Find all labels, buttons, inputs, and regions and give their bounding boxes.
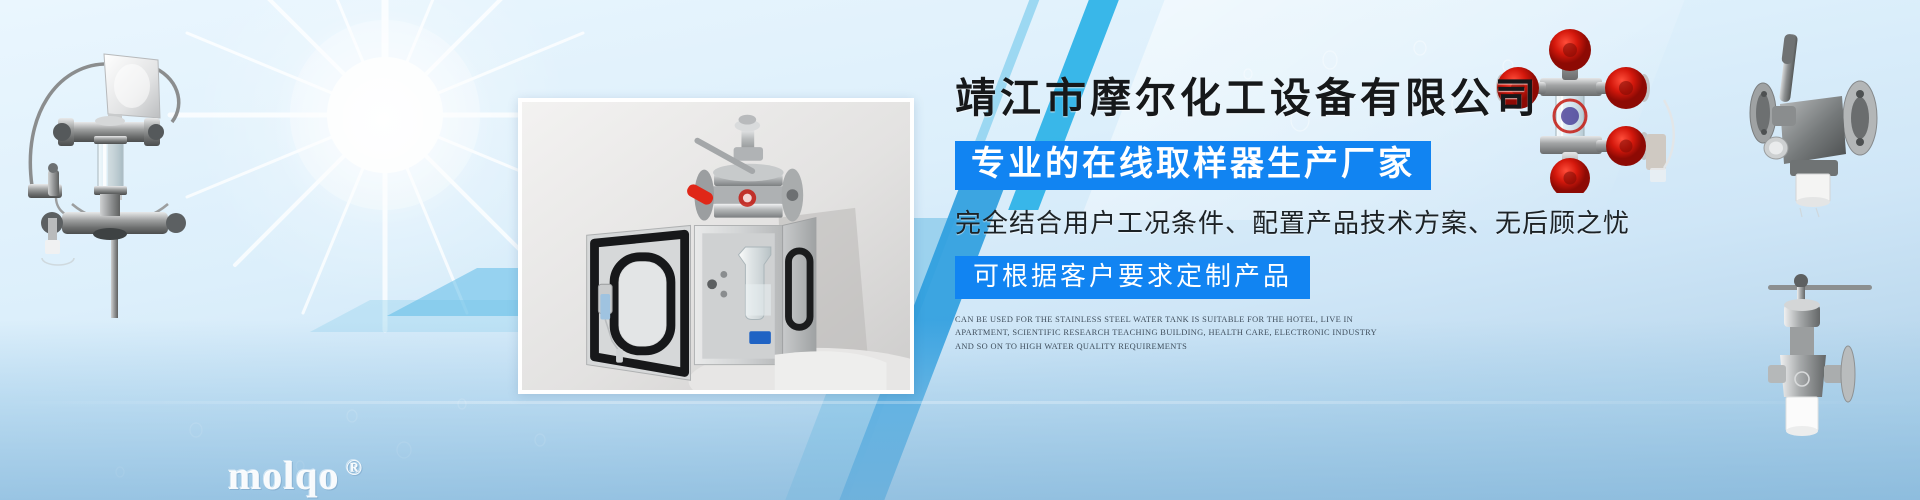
product-image-needle-sampling-valve: [1768, 255, 1920, 450]
brand-watermark: molqo®: [228, 452, 363, 499]
sub-headline: 完全结合用户工况条件、配置产品技术方案、无后顾之忧: [955, 208, 1675, 239]
company-name: 靖江市摩尔化工设备有限公司: [955, 76, 1675, 121]
customization-badge: 可根据客户要求定制产品: [955, 256, 1310, 299]
watermark-text: molqo: [228, 453, 340, 498]
product-image-inline-sampler: [0, 18, 225, 318]
water-highlight-line: [0, 401, 1920, 404]
english-description: CAN BE USED FOR THE STAINLESS STEEL WATE…: [955, 313, 1385, 355]
product-photo-sampling-cabinet: [518, 98, 914, 394]
headline-badge: 专业的在线取样器生产厂家: [955, 141, 1431, 190]
registered-trademark-icon: ®: [346, 455, 363, 480]
product-image-lever-sampling-valve: [1738, 18, 1920, 223]
photo-illustration: [522, 102, 910, 392]
promotional-banner: 靖江市摩尔化工设备有限公司 专业的在线取样器生产厂家 完全结合用户工况条件、配置…: [0, 0, 1920, 500]
banner-text-block: 靖江市摩尔化工设备有限公司 专业的在线取样器生产厂家 完全结合用户工况条件、配置…: [955, 76, 1675, 354]
